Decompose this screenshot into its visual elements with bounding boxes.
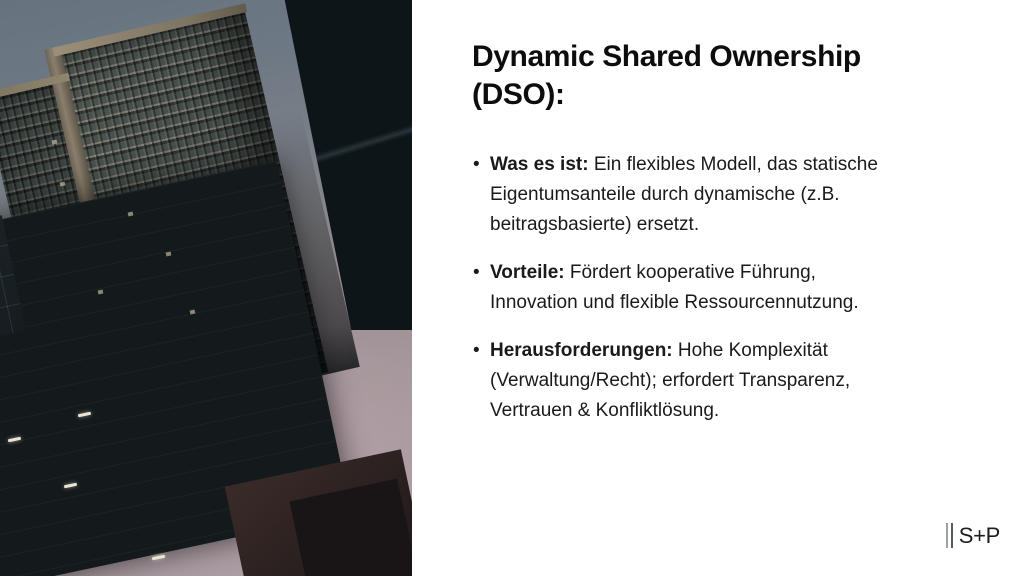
logo-bar-light (946, 523, 948, 548)
bullet-lead: Herausforderungen: (490, 340, 673, 361)
bullet-marker: • (473, 150, 480, 180)
logo-bar-dark (951, 523, 953, 548)
list-item: • Was es ist: Ein flexibles Modell, das … (472, 150, 902, 240)
list-item: • Vorteile: Fördert kooperative Führung,… (472, 258, 902, 318)
hero-photo (0, 0, 412, 576)
logo-wordmark: S+P (959, 525, 1000, 547)
logo-bars-icon (946, 523, 953, 548)
bullet-list: • Was es ist: Ein flexibles Modell, das … (472, 150, 902, 426)
brand-logo: S+P (946, 523, 1000, 548)
slide: Dynamic Shared Ownership (DSO): • Was es… (0, 0, 1024, 576)
bullet-marker: • (473, 336, 480, 366)
page-title: Dynamic Shared Ownership (DSO): (472, 38, 942, 114)
content-panel: Dynamic Shared Ownership (DSO): • Was es… (472, 0, 1024, 576)
bullet-lead: Vorteile: (490, 262, 565, 283)
bullet-marker: • (473, 258, 480, 288)
list-item: • Herausforderungen: Hohe Komplexität (V… (472, 336, 902, 426)
bullet-lead: Was es ist: (490, 154, 589, 175)
